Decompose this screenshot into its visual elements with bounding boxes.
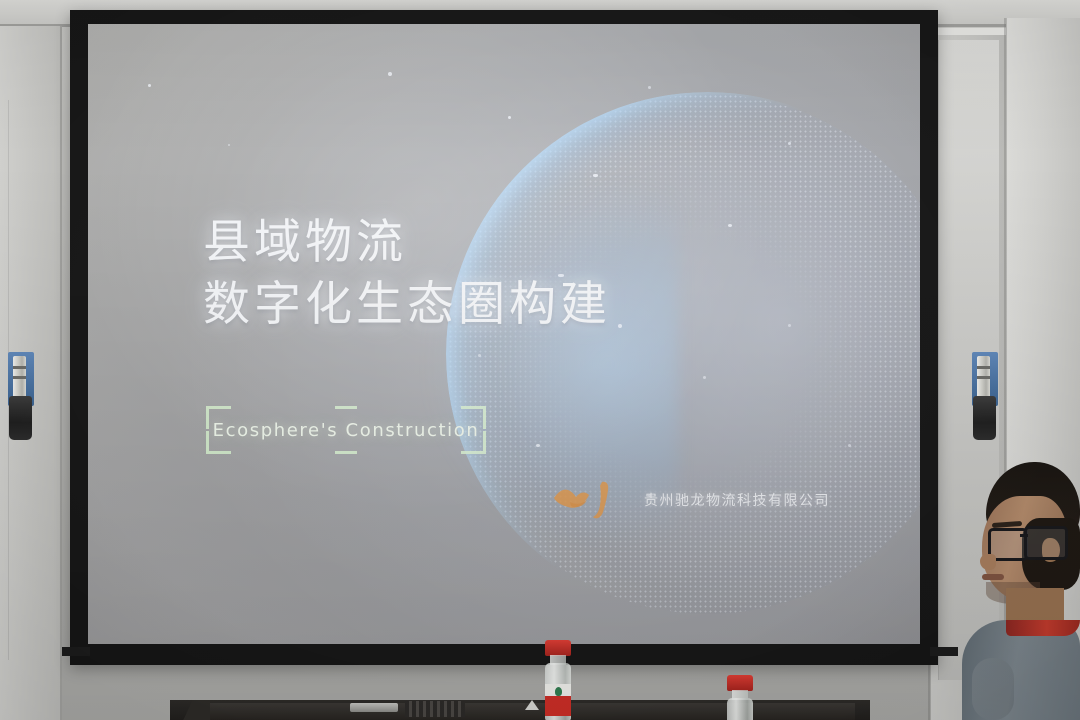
person-audience-member	[962, 462, 1080, 720]
star-particle	[478, 354, 481, 357]
left-wall-seam	[60, 26, 62, 720]
marker-cap	[9, 396, 32, 440]
table-item-dark-object[interactable]	[405, 701, 465, 717]
right-panel-top-trim	[930, 28, 1008, 35]
slide-subtitle-text: Ecosphere's Construction	[206, 406, 486, 454]
person-nose	[980, 554, 996, 570]
glasses-right-lens-icon	[1024, 526, 1068, 560]
glasses-bridge-icon	[1020, 534, 1028, 537]
star-particle	[703, 376, 706, 379]
company-lockup: 贵州驰龙物流科技有限公司	[548, 472, 830, 528]
table-item-remote[interactable]	[350, 703, 398, 712]
company-name-text: 贵州驰龙物流科技有限公司	[644, 490, 830, 510]
screen-frame-foot-right	[930, 647, 958, 656]
star-particle	[536, 444, 540, 447]
bottle-cap	[727, 675, 753, 691]
bottle-label-emblem-icon	[555, 687, 562, 696]
slide-subtitle-frame: Ecosphere's Construction	[206, 406, 486, 454]
screen-frame-foot-left	[62, 647, 90, 656]
person-shirt-fold	[972, 658, 1014, 720]
marker-holder-left[interactable]	[8, 352, 34, 416]
conference-table-top	[195, 703, 855, 720]
presentation-room-photo: 县域物流 数字化生态圈构建 Ecosphere's Construction	[0, 0, 1080, 720]
star-particle	[228, 144, 230, 146]
marker-holder-right[interactable]	[972, 352, 998, 416]
marker-stripe-2	[977, 376, 990, 379]
bottle-body	[727, 698, 753, 720]
conference-table-left-edge	[170, 700, 210, 720]
star-particle	[728, 224, 732, 227]
projector-screen-surface: 县域物流 数字化生态圈构建 Ecosphere's Construction	[88, 24, 920, 644]
bottle-cap	[545, 640, 571, 656]
marker-cap	[973, 396, 996, 440]
star-particle	[848, 444, 851, 447]
chilong-logistics-logo-icon	[548, 472, 630, 528]
star-particle	[148, 84, 151, 87]
star-particle	[508, 116, 511, 119]
globe-graphic	[388, 54, 920, 644]
star-particle	[593, 174, 598, 177]
projector-screen-frame: 县域物流 数字化生态圈构建 Ecosphere's Construction	[70, 10, 938, 665]
marker-stripe	[13, 366, 26, 369]
slide-title-line-1: 县域物流	[203, 212, 407, 274]
marker-stripe-2	[13, 376, 26, 379]
person-mouth	[982, 574, 1004, 580]
star-particle	[618, 324, 622, 328]
person-shirt-collar	[1006, 620, 1080, 636]
star-particle	[648, 86, 651, 89]
star-particle	[388, 72, 392, 76]
star-particle	[788, 142, 791, 145]
slide-title-line-2: 数字化生态圈构建	[203, 274, 611, 336]
marker-stripe	[977, 366, 990, 369]
star-particle	[788, 324, 791, 327]
